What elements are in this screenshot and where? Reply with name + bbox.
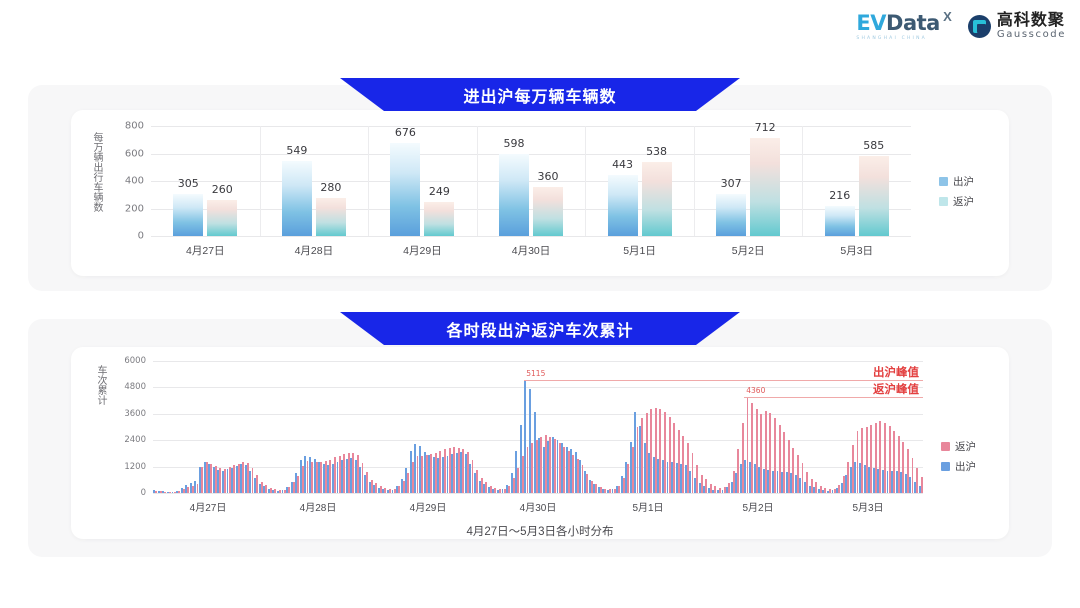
chart1-bar-value-label: 538 <box>646 145 667 158</box>
chart2-legend-label: 返沪 <box>955 439 976 454</box>
chart1-plot-area: 02004006008003052604月27日5492804月28日67624… <box>151 126 911 236</box>
chart1-x-tick: 5月1日 <box>623 243 656 258</box>
chart1-card: 02004006008003052604月27日5492804月28日67624… <box>71 110 1009 276</box>
chart2-y-tick: 1200 <box>124 462 146 472</box>
chart1-bar-value-label: 260 <box>212 183 233 196</box>
evdata-subtitle: SHANGHAI CHINA <box>856 36 939 41</box>
chart1-bar: 443 <box>608 175 638 236</box>
chart2-y-tick: 3600 <box>124 409 146 419</box>
chart1-bar: 712 <box>750 138 780 236</box>
header-logos: EVData X SHANGHAI CHINA 高科数聚 Gausscode <box>856 13 1066 41</box>
chart1-bar-value-label: 249 <box>429 185 450 198</box>
chart1-x-tick: 4月28日 <box>295 243 334 258</box>
chart2-gridline <box>153 493 923 494</box>
gausscode-name-en: Gausscode <box>997 30 1066 41</box>
chart2-peak-line <box>744 397 923 398</box>
chart1-y-tick: 800 <box>125 121 144 132</box>
chart1-legend-swatch <box>939 197 948 206</box>
gausscode-name-cn: 高科数聚 <box>997 13 1066 30</box>
chart1-bar: 549 <box>282 161 312 236</box>
chart2-x-tick: 4月28日 <box>300 499 337 514</box>
chart1-y-axis-title: 每万辆出行车辆数 <box>89 132 104 242</box>
chart1-category-separator <box>694 126 695 236</box>
chart2-x-tick: 4月30日 <box>520 499 557 514</box>
chart2-y-tick: 0 <box>141 488 146 498</box>
chart1-bar: 216 <box>825 206 855 236</box>
chart1-bar: 305 <box>173 194 203 236</box>
chart2-title-banner: 各时段出沪返沪车次累计 <box>340 312 740 345</box>
chart1-bar-value-label: 712 <box>755 121 776 134</box>
chart1-bar-value-label: 305 <box>178 177 199 190</box>
chart2-x-axis-caption: 4月27日～5月3日各小时分布 <box>71 523 1009 539</box>
chart1-bar-value-label: 676 <box>395 126 416 139</box>
chart1-bar-value-label: 216 <box>829 189 850 202</box>
chart1-gridline <box>151 181 911 182</box>
chart2-x-tick: 5月2日 <box>742 499 773 514</box>
chart1-x-tick: 4月29日 <box>403 243 442 258</box>
evdata-wordmark: EVData <box>856 13 939 34</box>
chart1-y-tick: 0 <box>138 231 144 242</box>
chart1-x-tick: 4月27日 <box>186 243 225 258</box>
chart1-legend-swatch <box>939 177 948 186</box>
chart1-y-tick: 600 <box>125 148 144 159</box>
chart2-peak-value: 4360 <box>746 386 765 395</box>
chart1-bar-value-label: 360 <box>538 170 559 183</box>
chart1-legend-label: 返沪 <box>953 194 974 209</box>
gausscode-logo: 高科数聚 Gausscode <box>968 13 1066 40</box>
chart1-category-separator <box>260 126 261 236</box>
chart1-gridline <box>151 236 911 237</box>
chart1-bar: 538 <box>642 162 672 236</box>
chart1-legend-label: 出沪 <box>953 174 974 189</box>
chart1-x-tick: 5月2日 <box>732 243 765 258</box>
chart2-gridline <box>153 387 923 388</box>
chart1-bar: 598 <box>499 154 529 236</box>
chart2-legend-item[interactable]: 返沪 <box>941 439 976 454</box>
chart2-legend-item[interactable]: 出沪 <box>941 459 976 474</box>
presentation-slide: EVData X SHANGHAI CHINA 高科数聚 Gausscode 0… <box>0 0 1080 608</box>
chart2-gridline <box>153 414 923 415</box>
chart2-y-tick: 2400 <box>124 435 146 445</box>
chart2-panel: 0120024003600480060004月27日4月28日4月29日4月30… <box>28 319 1052 557</box>
chart2-card: 0120024003600480060004月27日4月28日4月29日4月30… <box>71 347 1009 539</box>
chart1-x-tick: 5月3日 <box>840 243 873 258</box>
chart1-bar: 676 <box>390 143 420 236</box>
chart1-category-separator <box>585 126 586 236</box>
chart1-bar: 260 <box>207 200 237 236</box>
chart2-peak-label: 出沪峰值 <box>873 364 919 380</box>
chart1-bar: 249 <box>424 202 454 236</box>
chart1-bar-value-label: 598 <box>504 137 525 150</box>
chart1-category-separator <box>802 126 803 236</box>
chart2-legend-swatch <box>941 442 950 451</box>
chart2-y-axis-title: 车次累计 <box>93 365 108 497</box>
chart1-bar-value-label: 280 <box>320 181 341 194</box>
chart1-bar: 280 <box>316 198 346 237</box>
chart1-legend-item[interactable]: 返沪 <box>939 194 974 209</box>
evdata-logo: EVData X SHANGHAI CHINA <box>856 13 951 41</box>
chart1-bar-value-label: 443 <box>612 158 633 171</box>
chart2-gridline <box>153 361 923 362</box>
evdata-prefix: EV <box>856 11 886 35</box>
chart2-x-tick: 4月29日 <box>410 499 447 514</box>
chart1-category-separator <box>368 126 369 236</box>
evdata-superscript: X <box>943 9 952 24</box>
chart1-bar-value-label: 585 <box>863 139 884 152</box>
chart2-x-tick: 5月3日 <box>852 499 883 514</box>
chart1-y-tick: 200 <box>125 203 144 214</box>
chart1-panel: 02004006008003052604月27日5492804月28日67624… <box>28 85 1052 291</box>
chart1-category-separator <box>477 126 478 236</box>
evdata-suffix: Data <box>886 11 940 35</box>
chart2-y-tick: 4800 <box>124 382 146 392</box>
chart1-legend-item[interactable]: 出沪 <box>939 174 974 189</box>
chart1-bar: 360 <box>533 187 563 237</box>
chart2-title: 各时段出沪返沪车次累计 <box>446 317 633 341</box>
chart2-peak-value: 5115 <box>526 369 545 378</box>
chart2-peak-line <box>524 380 923 381</box>
chart1-bar-value-label: 307 <box>721 177 742 190</box>
chart1-gridline <box>151 209 911 210</box>
gausscode-text: 高科数聚 Gausscode <box>997 13 1066 40</box>
chart1-bar: 585 <box>859 156 889 236</box>
chart1-x-tick: 4月30日 <box>512 243 551 258</box>
chart1-y-tick: 400 <box>125 176 144 187</box>
chart2-x-tick: 5月1日 <box>632 499 663 514</box>
gausscode-mark-icon <box>968 15 991 38</box>
chart1-bar-value-label: 549 <box>286 144 307 157</box>
chart1-bar: 307 <box>716 194 746 236</box>
chart2-legend: 返沪出沪 <box>941 439 976 474</box>
chart2-y-tick: 6000 <box>124 356 146 366</box>
chart2-plot-area: 0120024003600480060004月27日4月28日4月29日4月30… <box>153 361 923 493</box>
chart1-gridline <box>151 126 911 127</box>
chart1-gridline <box>151 154 911 155</box>
chart1-title-banner: 进出沪每万辆车辆数 <box>340 78 740 111</box>
chart2-peak-label: 返沪峰值 <box>873 381 919 397</box>
chart1-legend: 出沪返沪 <box>939 174 974 209</box>
chart2-x-tick: 4月27日 <box>190 499 227 514</box>
chart2-bar-ret <box>921 477 923 493</box>
chart2-legend-label: 出沪 <box>955 459 976 474</box>
chart1-title: 进出沪每万辆车辆数 <box>463 83 616 107</box>
chart2-legend-swatch <box>941 462 950 471</box>
